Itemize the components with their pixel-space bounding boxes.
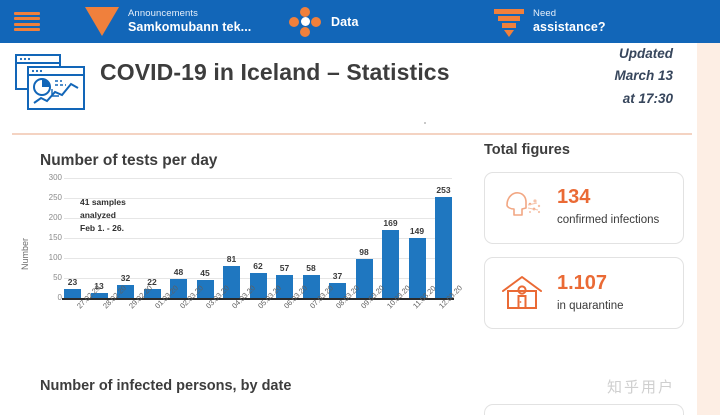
bar-03.03.20[interactable]: 45	[197, 178, 214, 298]
data-dots-icon	[288, 7, 322, 37]
bar-value-label: 169	[383, 218, 397, 228]
bar-value-label: 62	[253, 261, 262, 271]
annotation-line-2: analyzed	[80, 209, 126, 222]
bar-02.03.20[interactable]: 48	[170, 178, 187, 298]
bar-value-label: 45	[200, 268, 209, 278]
stat-card-partial-next[interactable]	[484, 404, 684, 415]
stat-card-in-quarantine[interactable]: 1.107 in quarantine	[484, 257, 684, 329]
house-icon	[499, 270, 545, 316]
watermark: 知乎用户	[607, 376, 675, 397]
bar-value-label: 81	[227, 254, 236, 264]
bar-06.03.20[interactable]: 57	[276, 178, 293, 298]
bar-value-label: 48	[174, 267, 183, 277]
coughing-person-icon	[499, 185, 545, 231]
bar-rect	[64, 289, 81, 298]
updated-time: at 17:30	[503, 88, 673, 110]
bar-value-label: 58	[306, 263, 315, 273]
triangle-down-icon	[85, 7, 119, 36]
y-tick-50: 50	[53, 274, 62, 282]
nav-item-data[interactable]: Data	[288, 0, 359, 43]
bar-value-label: 149	[410, 226, 424, 236]
last-updated-block: Updated March 13 at 17:30	[503, 43, 673, 110]
right-edge-strip	[697, 43, 720, 415]
updated-date: March 13	[503, 65, 673, 87]
bar-09.03.20[interactable]: 98	[356, 178, 373, 298]
nav-announcements-top-label: Announcements	[128, 9, 251, 20]
page-root: Announcements Samkomubann tek... Data Ne…	[0, 0, 720, 415]
y-tick-250: 250	[49, 194, 62, 202]
page-header: COVID-19 in Iceland – Statistics Updated…	[0, 43, 697, 121]
nav-item-assistance[interactable]: Need assistance?	[494, 0, 606, 43]
annotation-line-3: Feb 1. - 26.	[80, 222, 126, 235]
chart-title: Number of tests per day	[40, 152, 217, 170]
confirmed-infections-value: 134	[557, 186, 659, 209]
bar-05.03.20[interactable]: 62	[250, 178, 267, 298]
bar-07.03.20[interactable]: 58	[303, 178, 320, 298]
stat-card-confirmed-infections[interactable]: 134 confirmed infections	[484, 172, 684, 244]
bar-value-label: 98	[359, 247, 368, 257]
total-figures-panel: Total figures 134 confirmed infections	[484, 142, 694, 342]
in-quarantine-label: in quarantine	[557, 298, 624, 315]
nav-assistance-bottom-label: assistance?	[533, 20, 606, 34]
bar-11.03.20[interactable]: 149	[409, 178, 426, 298]
decorative-dot	[424, 122, 426, 124]
y-tick-150: 150	[49, 234, 62, 242]
nav-assistance-top-label: Need	[533, 9, 606, 20]
updated-label: Updated	[503, 43, 673, 65]
annotation-line-1: 41 samples	[80, 196, 126, 209]
bar-value-label: 253	[436, 185, 450, 195]
bar-rect	[435, 197, 452, 298]
nav-announcements-bottom-label: Samkomubann tek...	[128, 20, 251, 34]
funnel-icon	[494, 7, 524, 37]
infected-persons-section-title: Number of infected persons, by date	[40, 378, 291, 394]
bar-10.03.20[interactable]: 169	[382, 178, 399, 298]
y-tick-200: 200	[49, 214, 62, 222]
x-axis-ticks: 27.02.2028.02.2029.02.2001.03.2002.03.20…	[64, 304, 452, 354]
bar-04.03.20[interactable]: 81	[223, 178, 240, 298]
confirmed-infections-label: confirmed infections	[557, 212, 659, 229]
bar-01.03.20[interactable]: 22	[144, 178, 161, 298]
statistics-windows-icon	[14, 53, 88, 111]
bar-value-label: 23	[68, 277, 77, 287]
hamburger-menu-icon[interactable]	[14, 12, 40, 31]
bar-27.02.20[interactable]: 23	[64, 178, 81, 298]
y-axis-ticks: 050100150200250300	[36, 178, 62, 298]
in-quarantine-value: 1.107	[557, 272, 624, 295]
section-divider	[12, 133, 692, 135]
bar-12.03.20[interactable]: 253	[435, 178, 452, 298]
bar-value-label: 32	[121, 273, 130, 283]
y-tick-300: 300	[49, 174, 62, 182]
nav-data-label: Data	[331, 15, 359, 29]
chart-annotation: 41 samples analyzed Feb 1. - 26.	[80, 196, 126, 236]
y-axis-label: Number	[20, 238, 30, 270]
page-title: COVID-19 in Iceland – Statistics	[100, 59, 450, 86]
bar-value-label: 37	[333, 271, 342, 281]
total-figures-title: Total figures	[484, 142, 694, 158]
bar-value-label: 57	[280, 263, 289, 273]
y-tick-100: 100	[49, 254, 62, 262]
bar-08.03.20[interactable]: 37	[329, 178, 346, 298]
tests-per-day-chart-panel: Number of tests per day Number 050100150…	[0, 142, 475, 415]
nav-item-announcements[interactable]: Announcements Samkomubann tek...	[85, 0, 251, 43]
